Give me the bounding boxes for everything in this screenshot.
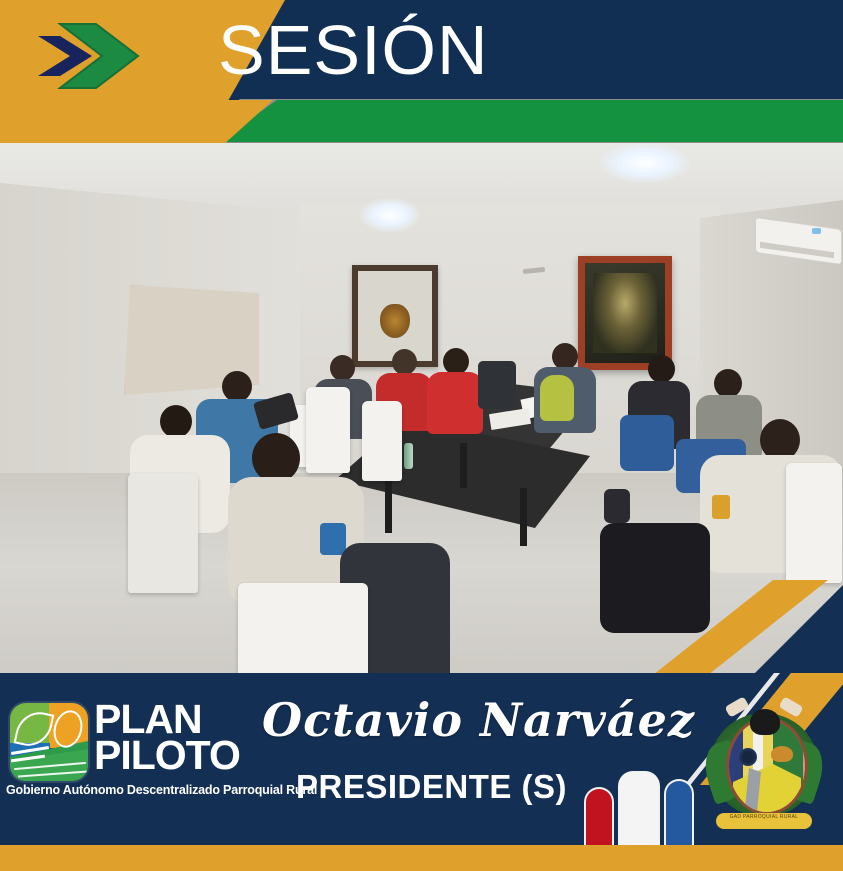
person-head	[160, 405, 192, 438]
coat-banner-text: GAD PARROQUIAL RURAL	[716, 814, 812, 820]
person-head	[330, 355, 355, 381]
footer-bottom-gold-bar	[0, 845, 843, 871]
coat-banner-ribbon: GAD PARROQUIAL RURAL	[716, 813, 812, 829]
reflective-vest	[540, 375, 574, 421]
plan-piloto-leaf-logo-icon	[10, 703, 88, 781]
table-leg	[520, 488, 527, 546]
person-legs-dark	[600, 523, 710, 633]
shield-cogwheel-icon	[739, 748, 757, 766]
coat-condor-icon	[750, 709, 780, 735]
plastic-chair	[362, 401, 402, 481]
poster-header: SESIÓN	[0, 0, 843, 146]
shield-toucan-icon	[771, 746, 793, 762]
person-head	[222, 371, 252, 402]
table-leg	[460, 443, 467, 488]
meeting-photograph	[0, 143, 843, 675]
flag-bar-white	[618, 771, 660, 845]
coat-of-arms-icon: GAD PARROQUIAL RURAL	[700, 695, 828, 835]
person-legs-jeans	[620, 415, 674, 471]
social-media-poster: SESIÓN	[0, 0, 843, 871]
room-scene	[0, 143, 843, 675]
plastic-chair	[238, 583, 368, 675]
person-head	[252, 433, 300, 483]
president-name: Octavio Narváez	[262, 693, 695, 747]
painting-canvas	[593, 273, 657, 353]
page-title: SESIÓN	[218, 4, 489, 96]
water-bottle-icon	[404, 443, 413, 469]
president-role: PRESIDENTE (S)	[296, 768, 567, 806]
shoulder-flag-patch	[712, 495, 730, 519]
person-torso	[427, 372, 483, 434]
crest-emblem-icon	[380, 304, 410, 338]
mobile-phone-icon	[604, 489, 630, 523]
double-chevron-icon	[38, 22, 188, 90]
office-chair	[478, 361, 516, 409]
metal-chair	[128, 473, 198, 593]
ceiling-light-icon	[360, 198, 420, 232]
person-head	[714, 369, 742, 398]
uniform-badge-icon	[320, 523, 346, 555]
framed-painting	[578, 256, 672, 370]
person-head	[648, 355, 675, 383]
coat-scroll-right	[778, 696, 803, 717]
plastic-chair	[306, 387, 350, 473]
flag-bar-blue	[664, 779, 694, 845]
table-leg	[385, 473, 392, 533]
poster-footer: PLAN PILOTO Gobierno Autónomo Descentral…	[0, 673, 843, 871]
person-head	[443, 348, 469, 375]
plastic-chair	[786, 463, 842, 583]
ceiling-light-icon	[600, 143, 690, 183]
brand-subtitle: Gobierno Autónomo Descentralizado Parroq…	[6, 783, 317, 797]
flag-bar-red	[584, 787, 614, 845]
coat-scroll-left	[724, 696, 749, 717]
air-conditioner-indicator	[812, 228, 821, 234]
person-head	[552, 343, 578, 370]
person-head	[392, 349, 417, 375]
brand-name-line2: PILOTO	[94, 734, 240, 776]
